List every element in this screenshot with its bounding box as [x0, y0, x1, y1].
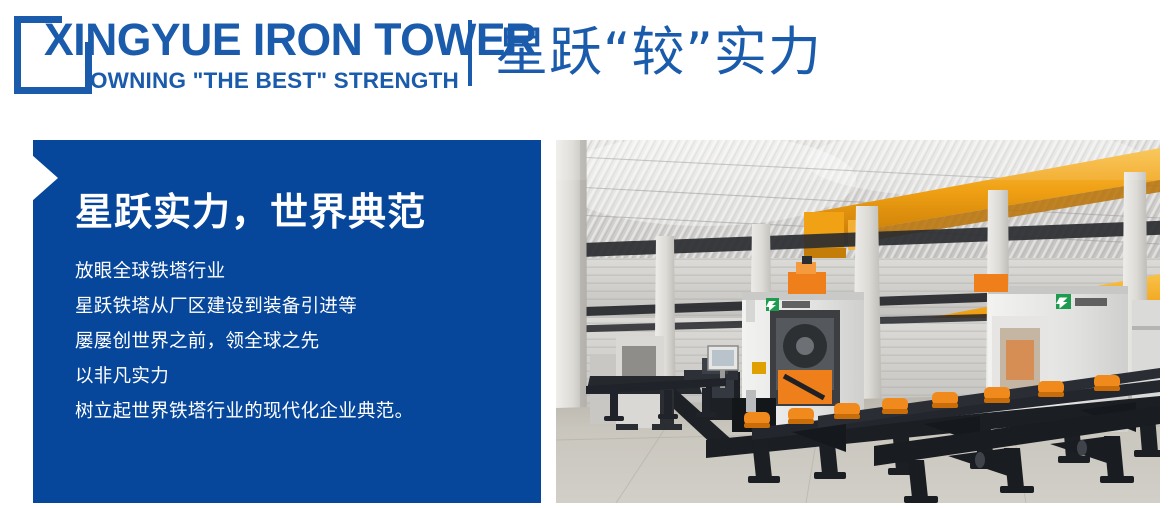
header-divider	[468, 20, 472, 86]
panel-line: 屡屡创世界之前，领全球之先	[75, 324, 515, 359]
panel-heading: 星跃实力，世界典范	[75, 188, 505, 236]
header-chinese-title: 星跃“较”实力	[495, 19, 822, 87]
factory-photo	[556, 140, 1160, 503]
page-header: XINGYUE IRON TOWER OWNING "THE BEST" STR…	[0, 0, 1172, 118]
panel-line: 星跃铁塔从厂区建设到装备引进等	[75, 289, 515, 324]
brand-tagline: OWNING "THE BEST" STRENGTH	[44, 66, 459, 96]
panel-line: 以非凡实力	[75, 359, 515, 394]
brand-block: XINGYUE IRON TOWER OWNING "THE BEST" STR…	[44, 14, 459, 102]
panel-line: 放眼全球铁塔行业	[75, 254, 515, 289]
panel-line: 树立起世界铁塔行业的现代化企业典范。	[75, 394, 515, 429]
brand-name: XINGYUE IRON TOWER	[44, 14, 455, 66]
panel-text-lines: 放眼全球铁塔行业 星跃铁塔从厂区建设到装备引进等 屡屡创世界之前，领全球之先 以…	[75, 254, 515, 429]
blue-content-panel: 星跃实力，世界典范 放眼全球铁塔行业 星跃铁塔从厂区建设到装备引进等 屡屡创世界…	[33, 140, 541, 503]
factory-photo-illustration	[556, 140, 1160, 503]
chevron-notch-icon	[33, 155, 58, 201]
